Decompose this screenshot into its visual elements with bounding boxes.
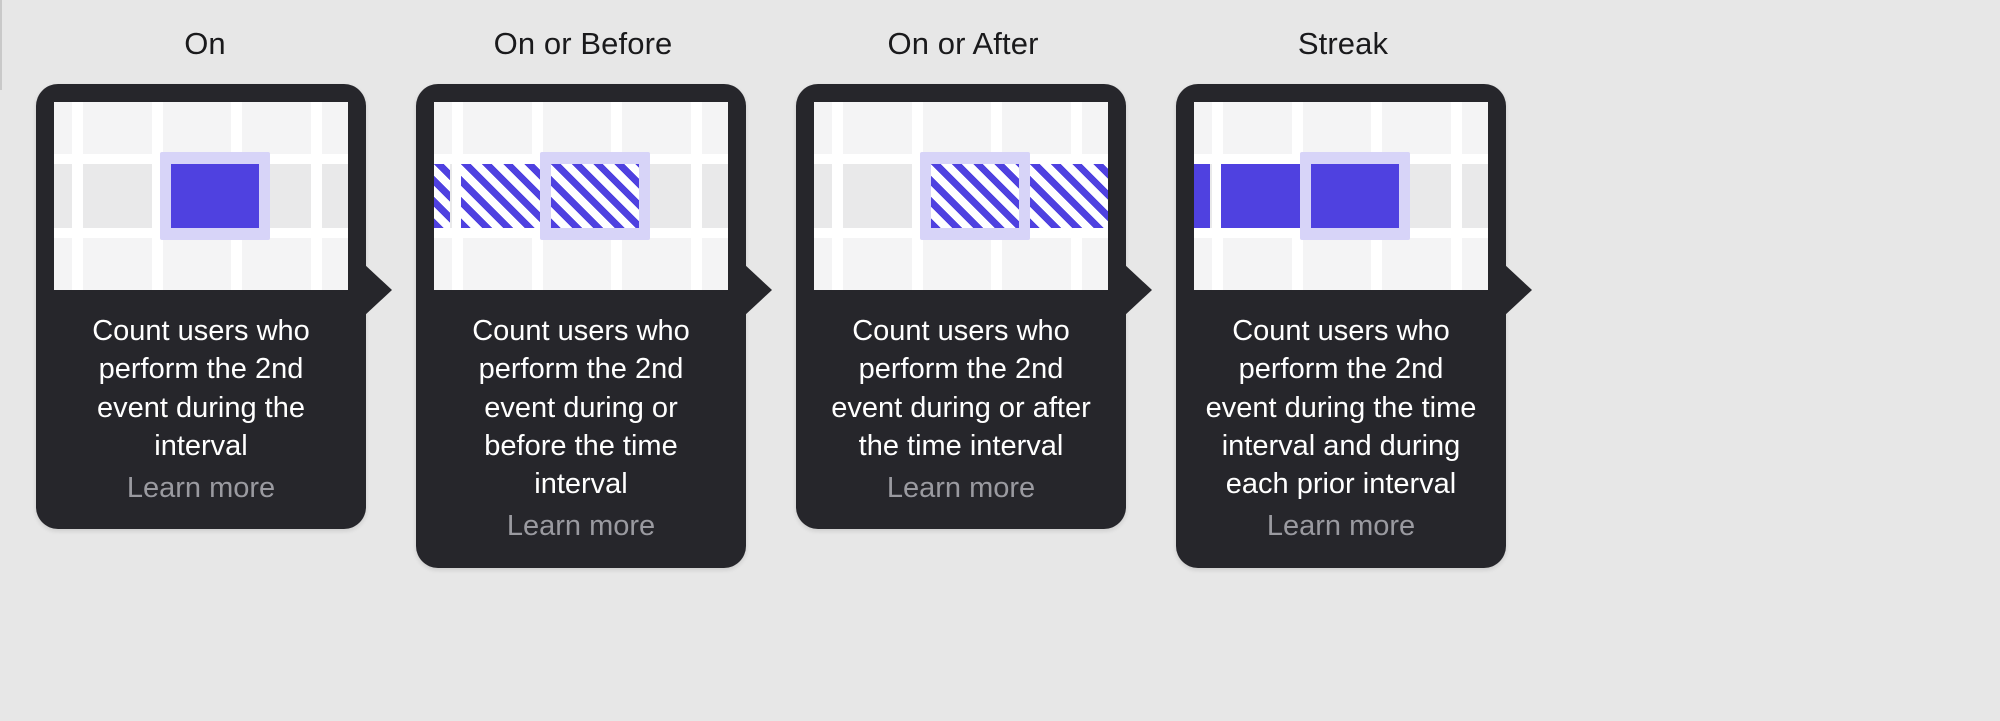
- learn-more-link[interactable]: Learn more: [54, 469, 348, 529]
- grid-cell: [814, 102, 832, 154]
- grid-cell: [622, 102, 691, 154]
- grid-cell: [1082, 164, 1108, 228]
- card-streak[interactable]: Count users who perform the 2nd event du…: [1176, 84, 1506, 568]
- column-title-on: On: [40, 26, 370, 62]
- grid-cell: [83, 102, 152, 154]
- grid-row: [54, 102, 348, 154]
- grid-row: [1194, 164, 1488, 228]
- grid-cell: [702, 102, 728, 154]
- grid-cell: [622, 164, 691, 228]
- grid-cell: [814, 238, 832, 290]
- grid-cell: [1223, 164, 1292, 228]
- grid-cell: [1382, 102, 1451, 154]
- grid-cell: [322, 238, 348, 290]
- column-title-on-or-before: On or Before: [418, 26, 748, 62]
- grid-cell: [702, 238, 728, 290]
- grid-cell: [242, 238, 311, 290]
- grid-cell: [1303, 102, 1372, 154]
- grid-cell: [923, 102, 992, 154]
- grid-cell: [54, 164, 72, 228]
- column-title-on-or-after: On or After: [798, 26, 1128, 62]
- grid-row: [54, 238, 348, 290]
- grid-cell: [1223, 238, 1292, 290]
- column-headers: On On or Before On or After Streak: [0, 0, 2000, 90]
- card-on[interactable]: Count users who perform the 2nd event du…: [36, 84, 366, 529]
- grid-cell: [1082, 102, 1108, 154]
- chevron-right-icon: [744, 264, 772, 316]
- grid-cell: [163, 164, 232, 228]
- comparison-panel: On On or Before On or After Streak: [0, 0, 2000, 721]
- card-caption: Count users who perform the 2nd event du…: [434, 312, 728, 503]
- grid-row: [814, 102, 1108, 154]
- grid-cell: [543, 164, 612, 228]
- grid-cell: [242, 164, 311, 228]
- diagram-on-or-before: [434, 102, 728, 290]
- grid-cell: [1223, 102, 1292, 154]
- diagram-streak: [1194, 102, 1488, 290]
- diagram-on-or-after: [814, 102, 1108, 290]
- grid-cell: [1002, 102, 1071, 154]
- grid-cell: [702, 164, 728, 228]
- grid-cell: [622, 238, 691, 290]
- grid-cell: [1002, 238, 1071, 290]
- grid-cell: [843, 238, 912, 290]
- card-caption: Count users who perform the 2nd event du…: [1194, 312, 1488, 503]
- grid-cell: [54, 102, 72, 154]
- grid-cell: [1002, 164, 1071, 228]
- grid-cell: [1303, 238, 1372, 290]
- grid-cell: [1082, 238, 1108, 290]
- card-caption: Count users who perform the 2nd event du…: [54, 312, 348, 465]
- learn-more-link[interactable]: Learn more: [1194, 507, 1488, 567]
- grid-cell: [1194, 102, 1212, 154]
- grid-cell: [83, 164, 152, 228]
- card-on-or-before[interactable]: Count users who perform the 2nd event du…: [416, 84, 746, 568]
- grid-cell: [242, 102, 311, 154]
- diagram-on: [54, 102, 348, 290]
- grid-cell: [1303, 164, 1372, 228]
- grid-row: [814, 164, 1108, 228]
- grid-cell: [543, 238, 612, 290]
- chevron-right-icon: [364, 264, 392, 316]
- card-caption: Count users who perform the 2nd event du…: [814, 312, 1108, 465]
- interval-grid: [1194, 102, 1488, 290]
- grid-cell: [1382, 164, 1451, 228]
- grid-cell: [434, 102, 452, 154]
- grid-cell: [843, 164, 912, 228]
- chevron-right-icon: [1504, 264, 1532, 316]
- grid-row: [1194, 102, 1488, 154]
- grid-cell: [843, 102, 912, 154]
- chevron-right-icon: [1124, 264, 1152, 316]
- grid-row: [54, 164, 348, 228]
- card-on-or-after[interactable]: Count users who perform the 2nd event du…: [796, 84, 1126, 529]
- grid-row: [434, 164, 728, 228]
- grid-cell: [163, 238, 232, 290]
- grid-row: [814, 238, 1108, 290]
- grid-cell: [163, 102, 232, 154]
- grid-cell: [463, 238, 532, 290]
- column-title-streak: Streak: [1178, 26, 1508, 62]
- header-divider-rule: [0, 0, 2, 90]
- grid-row: [434, 238, 728, 290]
- grid-cell: [923, 164, 992, 228]
- grid-cell: [1194, 164, 1212, 228]
- grid-cell: [83, 238, 152, 290]
- interval-grid: [54, 102, 348, 290]
- grid-row: [434, 102, 728, 154]
- interval-grid: [814, 102, 1108, 290]
- learn-more-link[interactable]: Learn more: [434, 507, 728, 567]
- grid-cell: [1194, 238, 1212, 290]
- grid-cell: [1462, 102, 1488, 154]
- learn-more-link[interactable]: Learn more: [814, 469, 1108, 529]
- grid-cell: [322, 164, 348, 228]
- grid-cell: [463, 102, 532, 154]
- grid-cell: [923, 238, 992, 290]
- grid-cell: [814, 164, 832, 228]
- grid-cell: [1462, 238, 1488, 290]
- grid-cell: [543, 102, 612, 154]
- grid-cell: [322, 102, 348, 154]
- grid-cell: [54, 238, 72, 290]
- grid-cell: [1462, 164, 1488, 228]
- grid-cell: [434, 164, 452, 228]
- grid-row: [1194, 238, 1488, 290]
- grid-cell: [1382, 238, 1451, 290]
- grid-cell: [463, 164, 532, 228]
- grid-cell: [434, 238, 452, 290]
- interval-grid: [434, 102, 728, 290]
